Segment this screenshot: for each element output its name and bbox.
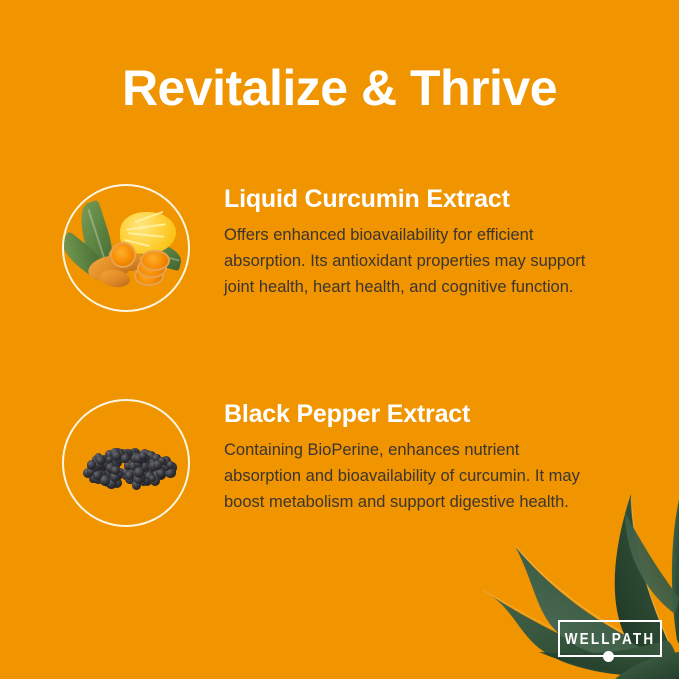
- feature-text-curcumin: Liquid Curcumin Extract Offers enhanced …: [224, 184, 624, 300]
- brand-wordmark: WELLPATH: [565, 630, 656, 648]
- peppercorn: [139, 452, 147, 460]
- feature-heading: Liquid Curcumin Extract: [224, 184, 624, 214]
- peppercorn: [157, 469, 166, 478]
- feature-heading: Black Pepper Extract: [224, 399, 624, 429]
- feature-block-curcumin: Liquid Curcumin Extract Offers enhanced …: [0, 184, 679, 344]
- product-feature-poster: Revitalize & Thrive: [0, 0, 679, 679]
- brand-dot-icon: [603, 651, 614, 662]
- feature-text-black-pepper: Black Pepper Extract Containing BioPerin…: [224, 399, 624, 515]
- peppercorn: [96, 456, 105, 465]
- feature-body: Containing BioPerine, enhances nutrient …: [224, 437, 598, 515]
- peppercorn: [93, 471, 102, 480]
- peppercorn: [134, 467, 144, 477]
- feature-body: Offers enhanced bioavailability for effi…: [224, 222, 598, 300]
- feature-block-black-pepper: Black Pepper Extract Containing BioPerin…: [0, 399, 679, 559]
- peppercorn: [87, 460, 96, 469]
- page-title: Revitalize & Thrive: [0, 58, 679, 118]
- black-peppercorns-image: [62, 399, 190, 527]
- turmeric-root-slices-leaves-image: [62, 184, 190, 312]
- peppercorn: [153, 460, 162, 469]
